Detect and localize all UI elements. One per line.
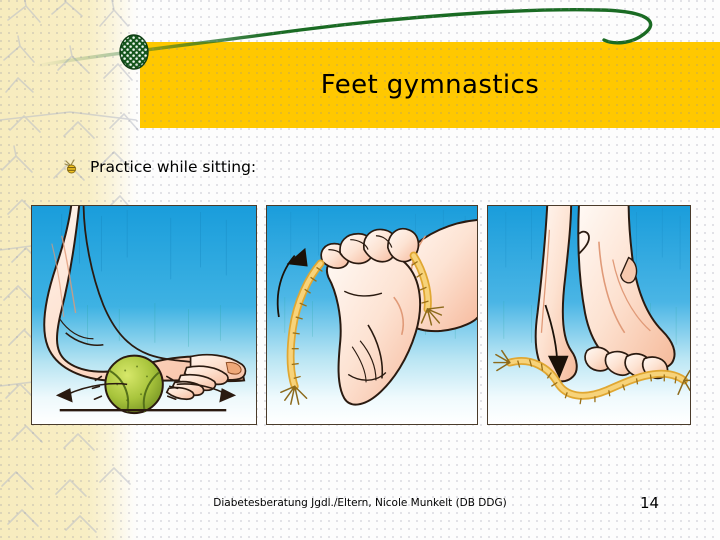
page-title: Feet gymnastics — [140, 42, 720, 128]
bullet-row: Practice while sitting: — [62, 158, 256, 176]
page-number: 14 — [640, 494, 659, 512]
photo-toes-gripping-rope — [266, 205, 478, 425]
slide-canvas: Feet gymnastics Practice while sitting: — [0, 0, 720, 540]
bullet-text: Practice while sitting: — [90, 158, 256, 176]
footer-credit: Diabetesberatung Jgdl./Eltern, Nicole Mu… — [0, 497, 720, 509]
photo-foot-picking-rope — [487, 205, 691, 425]
bee-bullet-icon — [62, 158, 80, 176]
photo-foot-rolling-ball — [31, 205, 257, 425]
photo-filmstrip — [31, 205, 691, 425]
